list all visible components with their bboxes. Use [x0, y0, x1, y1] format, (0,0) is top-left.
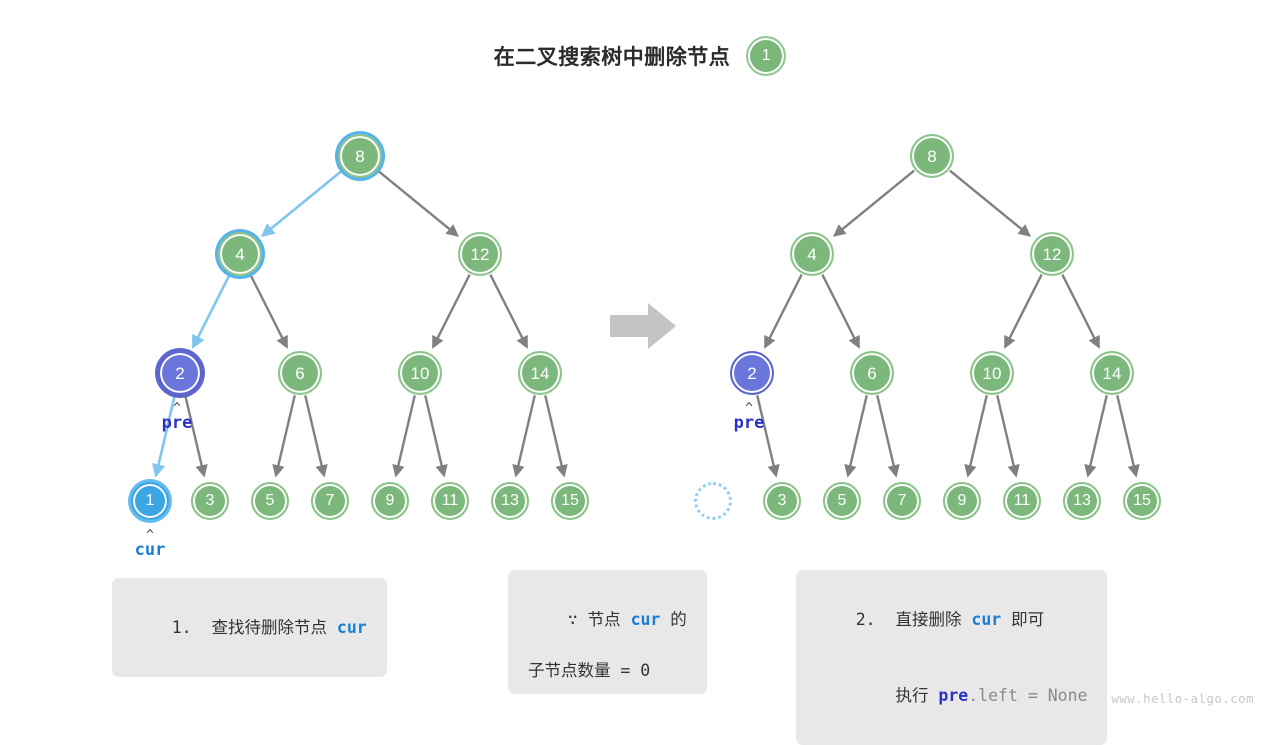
tree-node-5: 5 [823, 482, 861, 520]
pointer-label-cur: ^cur [120, 531, 180, 559]
tree-edge [396, 395, 415, 475]
tree-edge [968, 395, 987, 475]
caption-left-keyword-cur: cur [337, 618, 367, 637]
right-tree-edges [757, 171, 1136, 476]
tree-node-13: 13 [1063, 482, 1101, 520]
pointer-text-cur: cur [135, 542, 166, 559]
tree-edge [834, 171, 914, 236]
tree-node-2: 2 [730, 351, 774, 395]
tree-edge [1005, 275, 1042, 348]
left-tree-edges [156, 171, 564, 476]
tree-edge [997, 395, 1016, 475]
tree-edge [848, 395, 867, 475]
caption-right-line1-prefix: 2. 直接删除 [856, 610, 972, 629]
tree-node-4: 4 [218, 232, 262, 276]
tree-edge [950, 171, 1030, 236]
pointer-label-pre: ^pre [719, 404, 779, 432]
tree-node-8: 8 [338, 134, 382, 178]
pointer-text-pre: pre [734, 415, 765, 432]
tree-node-2: 2 [158, 351, 202, 395]
caption-step-1: 1. 查找待删除节点 cur [112, 578, 387, 677]
tree-node-7: 7 [311, 482, 349, 520]
caption-mid-line2: 子节点数量 = 0 [528, 658, 687, 684]
caption-mid-line1-suffix: 的 [660, 610, 686, 629]
tree-node-10: 10 [398, 351, 442, 395]
tree-edge [1088, 395, 1107, 475]
tree-edge [1117, 395, 1136, 475]
tree-edge [1062, 275, 1099, 348]
tree-node-13: 13 [491, 482, 529, 520]
tree-node-6: 6 [850, 351, 894, 395]
caption-right-line2-prefix: 执行 [856, 686, 939, 705]
tree-edge [305, 395, 324, 475]
tree-edge [545, 395, 564, 475]
tree-node-3: 3 [191, 482, 229, 520]
tree-edge [765, 275, 802, 348]
caption-right-keyword-cur: cur [971, 610, 1001, 629]
title-step-badge: 1 [746, 36, 786, 76]
page-title-bar: 在二叉搜索树中删除节点 1 [0, 34, 1280, 78]
tree-edge [250, 275, 287, 348]
tree-edge [877, 395, 896, 475]
tree-node-14: 14 [1090, 351, 1134, 395]
tree-edge [262, 171, 342, 236]
tree-node-14: 14 [518, 351, 562, 395]
caption-condition: ∵ 节点 cur 的 子节点数量 = 0 [508, 570, 707, 694]
tree-edge [378, 171, 458, 236]
page-title: 在二叉搜索树中删除节点 [494, 41, 731, 71]
tree-edge [516, 395, 535, 475]
caption-mid-line1-prefix: ∵ 节点 [568, 610, 631, 629]
tree-edge [425, 395, 444, 475]
tree-node-12: 12 [458, 232, 502, 276]
tree-node-15: 15 [1123, 482, 1161, 520]
caption-left-prefix: 1. 查找待删除节点 [172, 618, 337, 637]
caption-right-line1-suffix: 即可 [1001, 610, 1044, 629]
tree-node-1: 1 [131, 482, 169, 520]
tree-node-10: 10 [970, 351, 1014, 395]
tree-node-15: 15 [551, 482, 589, 520]
tree-node-9: 9 [943, 482, 981, 520]
tree-node-8: 8 [910, 134, 954, 178]
caption-right-line2-suffix: .left = None [968, 686, 1087, 705]
tree-node-7: 7 [883, 482, 921, 520]
tree-node-12: 12 [1030, 232, 1074, 276]
tree-edge [193, 275, 230, 348]
caption-right-keyword-pre: pre [938, 686, 968, 705]
tree-node-removed-placeholder [694, 482, 732, 520]
pointer-text-pre: pre [162, 415, 193, 432]
pointer-label-pre: ^pre [147, 404, 207, 432]
caption-mid-keyword-cur: cur [631, 610, 661, 629]
caption-step-2: 2. 直接删除 cur 即可 执行 pre.left = None [796, 570, 1107, 745]
tree-node-5: 5 [251, 482, 289, 520]
tree-edge [822, 275, 859, 348]
watermark: www.hello-algo.com [1111, 691, 1254, 706]
tree-node-9: 9 [371, 482, 409, 520]
tree-node-4: 4 [790, 232, 834, 276]
tree-node-6: 6 [278, 351, 322, 395]
tree-edge [490, 275, 527, 348]
tree-node-11: 11 [1003, 482, 1041, 520]
tree-edge [276, 395, 295, 475]
tree-node-11: 11 [431, 482, 469, 520]
tree-edge [433, 275, 470, 348]
transition-arrow-icon [608, 300, 678, 352]
tree-node-3: 3 [763, 482, 801, 520]
